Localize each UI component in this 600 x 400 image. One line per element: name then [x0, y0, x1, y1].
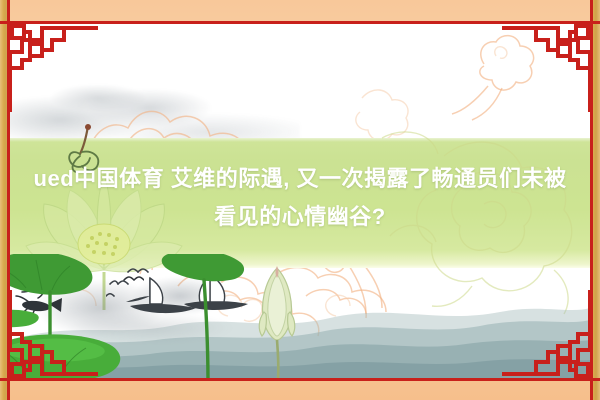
fish-icon: [14, 266, 144, 322]
bottom-scene: [10, 248, 590, 378]
poster-headline: ued中国体育 艾维的际遇, 又一次揭露了畅通员们未被看见的心情幽谷?: [0, 160, 600, 236]
frame-rule-bottom: [0, 378, 600, 381]
poster-image: ued中国体育 艾维的际遇, 又一次揭露了畅通员们未被看见的心情幽谷?: [0, 0, 600, 400]
